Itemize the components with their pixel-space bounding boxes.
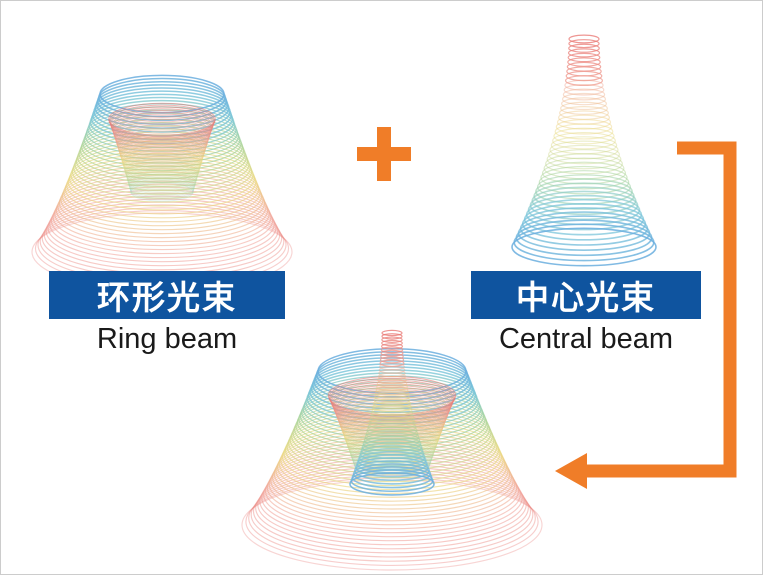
plus-icon-shape xyxy=(357,127,411,181)
ring-beam-ring-stack xyxy=(32,75,292,291)
result-flow-arrow: ← xyxy=(549,141,739,481)
ring-beam-svg xyxy=(19,56,305,276)
combined-beam-ring-stack xyxy=(242,330,542,570)
figure-canvas: + 环形光束 Ring beam 中心光束 Central beam xyxy=(0,0,763,575)
label-ring-beam-zh: 环形光束 xyxy=(49,271,285,319)
combined-beam-svg xyxy=(229,319,555,551)
flow-arrow-path xyxy=(583,148,730,471)
flow-arrow-svg xyxy=(549,141,739,481)
label-ring-beam-zh-text: 环形光束 xyxy=(97,271,237,319)
ring-beam-illustration xyxy=(19,56,305,276)
plus-operator: + xyxy=(353,123,415,185)
plus-icon xyxy=(353,123,415,185)
combined-beam-illustration xyxy=(229,319,555,551)
flow-arrow-head xyxy=(555,453,587,489)
